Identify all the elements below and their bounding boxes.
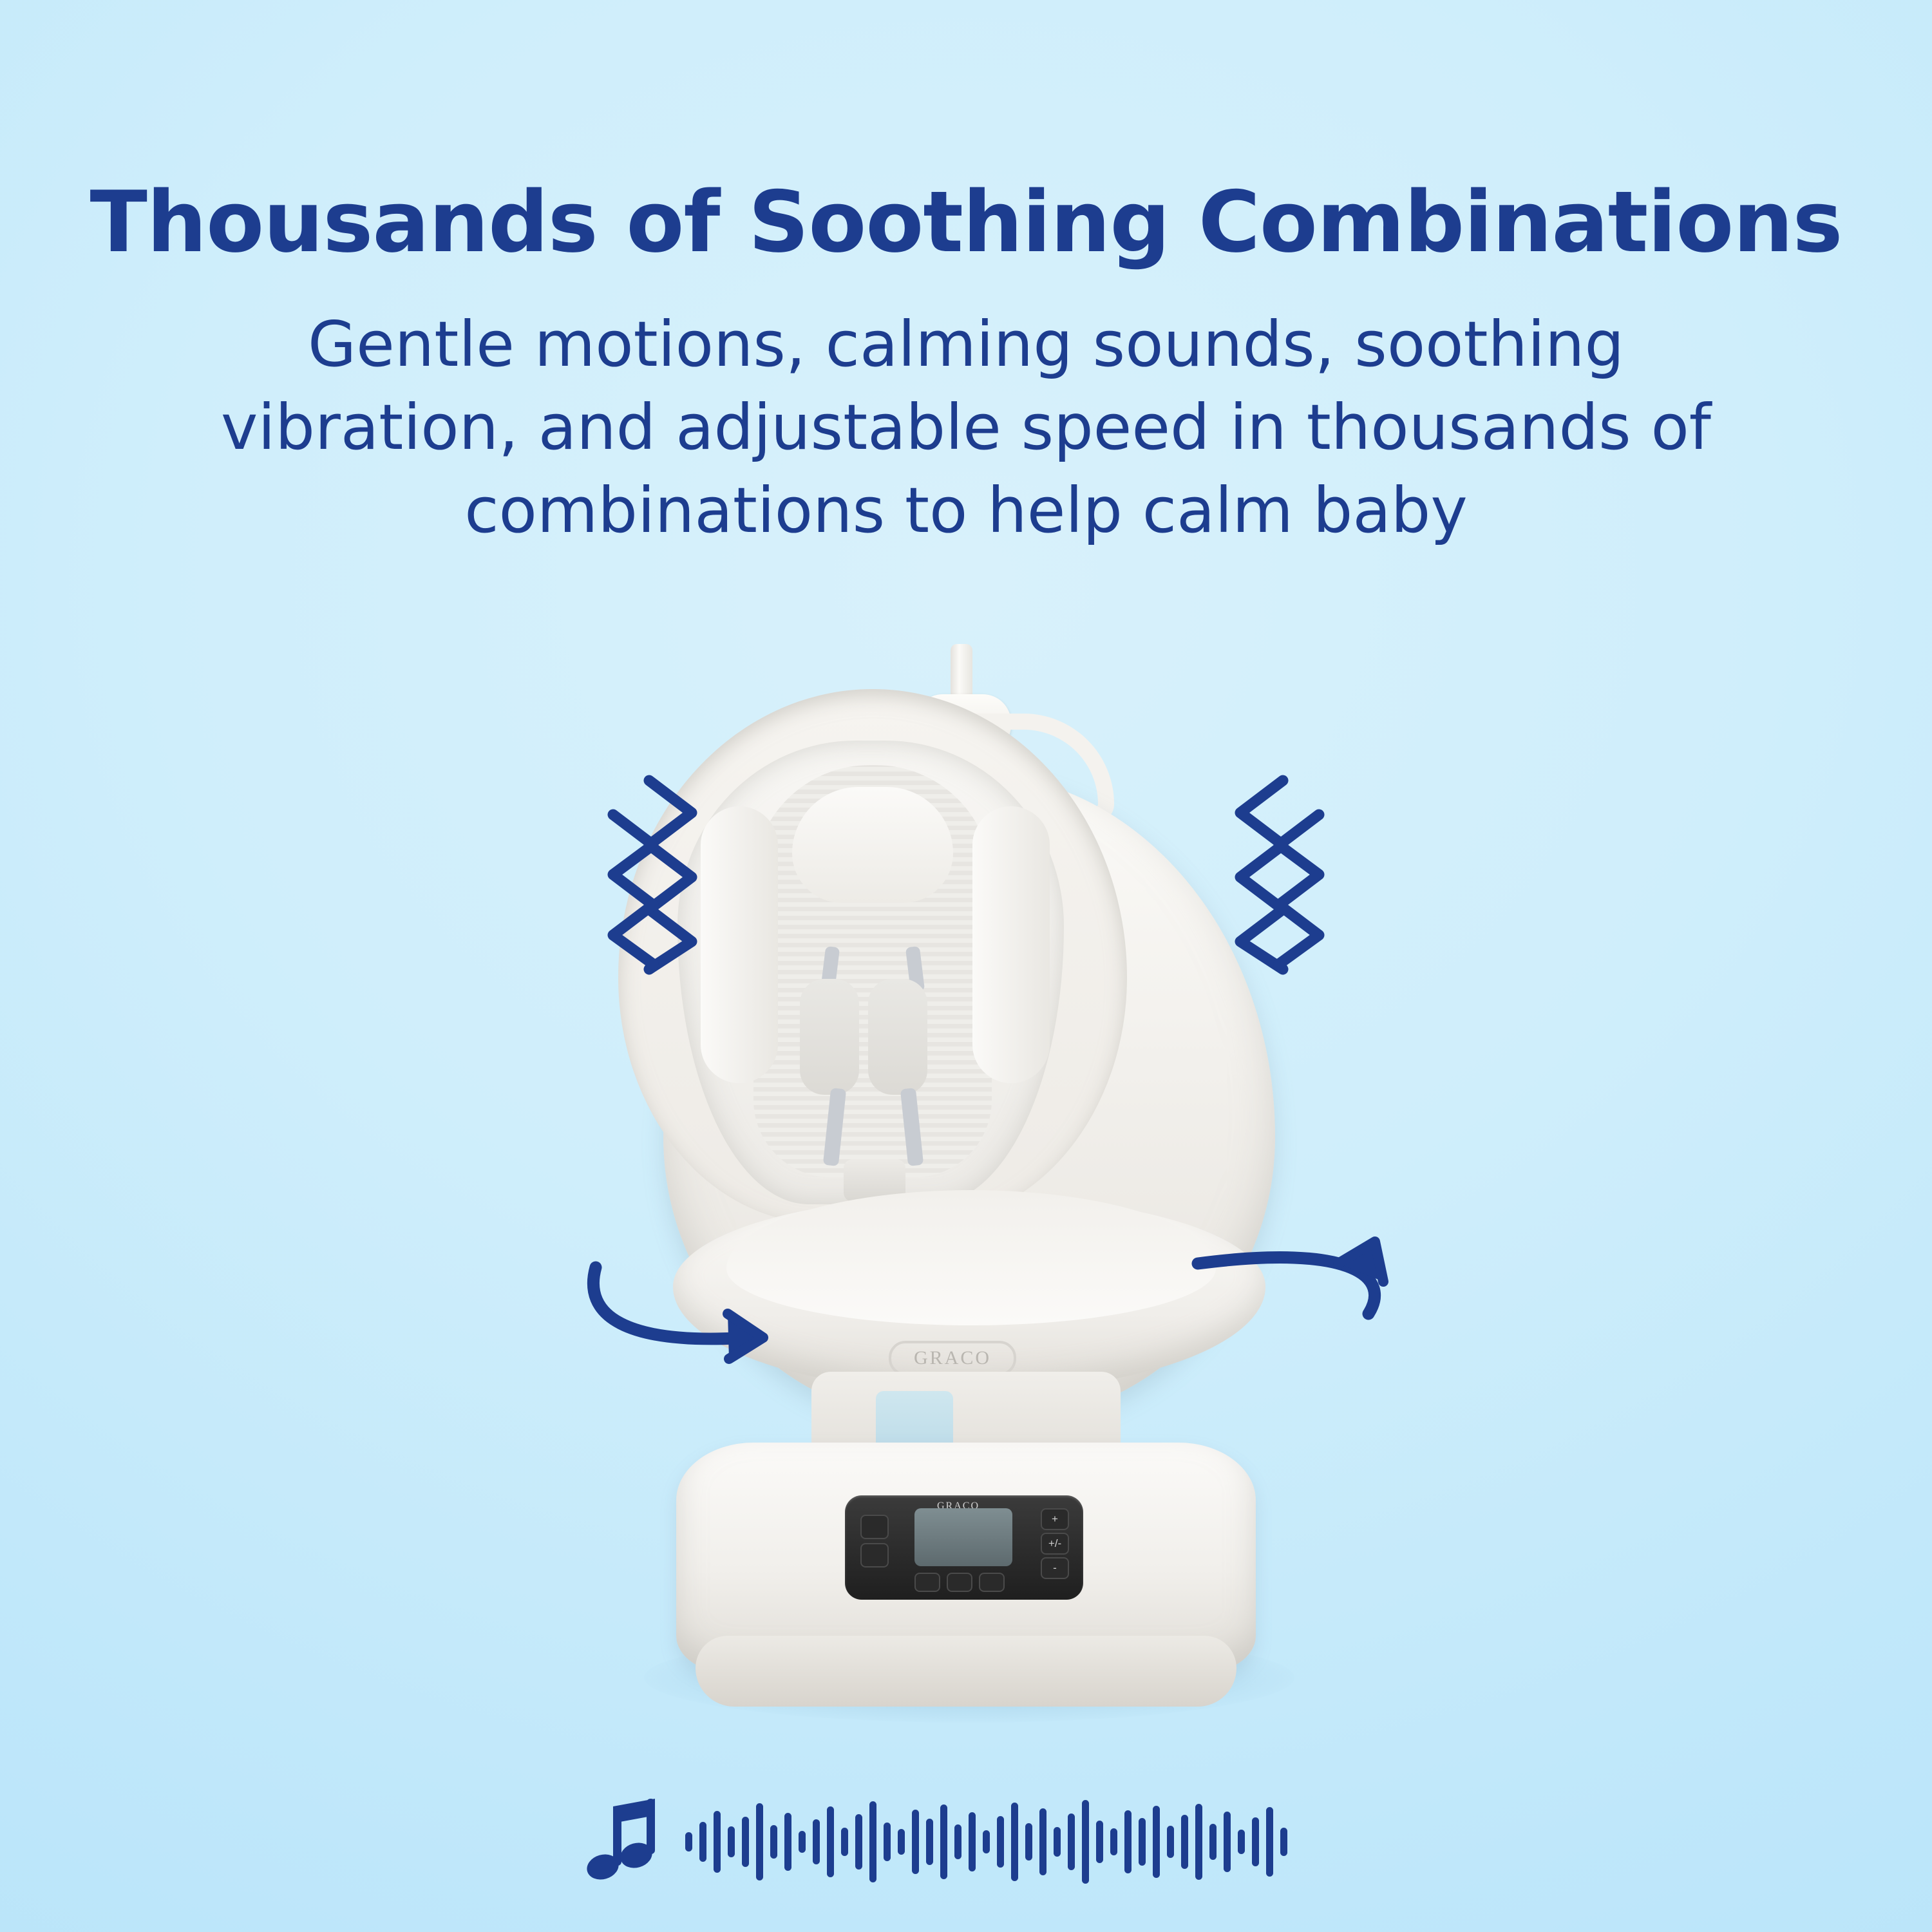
harness-pad-right	[868, 979, 927, 1095]
waveform-bar	[1266, 1807, 1273, 1877]
waveform-bar	[1039, 1808, 1046, 1875]
waveform-bar	[1054, 1827, 1061, 1857]
adjust-button[interactable]: +/-	[1041, 1533, 1069, 1555]
waveform-bar	[1139, 1818, 1146, 1866]
waveform-bar	[1280, 1828, 1287, 1856]
waveform-bar	[827, 1806, 834, 1877]
waveform-bar	[841, 1828, 848, 1856]
waveform-bar	[1068, 1814, 1075, 1870]
increase-button[interactable]: +	[1041, 1508, 1069, 1530]
music-note-icon	[580, 1794, 676, 1890]
waveform-bar	[685, 1832, 692, 1851]
head-support	[792, 787, 953, 903]
waveform-bar	[940, 1804, 947, 1879]
waveform-bar	[1224, 1812, 1231, 1872]
waveform-bar	[1181, 1815, 1188, 1869]
harness-pad-left	[800, 979, 859, 1095]
waveform-bar	[699, 1822, 706, 1862]
product-illustration: GRACO GRACO + +/- -	[567, 644, 1365, 1758]
waveform-bar	[784, 1813, 791, 1871]
sound-waveform-group	[580, 1784, 1352, 1900]
waveform-bar	[813, 1819, 820, 1864]
waveform-bar	[926, 1819, 933, 1865]
waveform-bar	[1011, 1803, 1018, 1881]
waveform-bar	[770, 1825, 777, 1859]
control-panel-screen	[914, 1508, 1012, 1566]
waveform-bars	[685, 1794, 1287, 1890]
waveform-bar	[1167, 1826, 1174, 1858]
page-subtitle: Gentle motions, calming sounds, soothing…	[177, 303, 1755, 552]
decrease-button[interactable]: -	[1041, 1557, 1069, 1579]
waveform-bar	[869, 1801, 876, 1882]
base-foot	[696, 1636, 1236, 1707]
waveform-bar	[898, 1829, 905, 1855]
waveform-bar	[1195, 1804, 1202, 1880]
waveform-bar	[714, 1811, 721, 1873]
page-title: Thousands of Soothing Combinations	[0, 173, 1932, 271]
waveform-bar	[912, 1810, 919, 1874]
vibration-button[interactable]	[860, 1515, 889, 1539]
waveform-bar	[1238, 1830, 1245, 1854]
waveform-bar	[1096, 1821, 1103, 1863]
waveform-bar	[969, 1812, 976, 1871]
waveform-bar	[1124, 1810, 1132, 1873]
seat-bolster-right	[972, 806, 1050, 1083]
waveform-bar	[983, 1830, 990, 1853]
motion-button[interactable]	[860, 1543, 889, 1567]
waveform-bar	[884, 1823, 891, 1861]
waveform-bar	[1252, 1817, 1259, 1866]
promo-image: Thousands of Soothing Combinations Gentl…	[0, 0, 1932, 1932]
waveform-bar	[1110, 1828, 1117, 1855]
power-button[interactable]	[914, 1573, 940, 1592]
waveform-bar	[742, 1817, 749, 1867]
waveform-bar	[997, 1816, 1004, 1868]
sound-button[interactable]	[979, 1573, 1005, 1592]
waveform-bar	[1209, 1824, 1217, 1860]
waveform-bar	[756, 1803, 763, 1880]
waveform-bar	[954, 1824, 961, 1859]
waveform-bar	[799, 1831, 806, 1853]
waveform-bar	[855, 1814, 862, 1870]
brand-badge: GRACO	[889, 1341, 1016, 1376]
waveform-bar	[728, 1826, 735, 1857]
timer-button[interactable]	[947, 1573, 972, 1592]
seat-bolster-left	[701, 806, 778, 1083]
waveform-bar	[1153, 1806, 1160, 1878]
waveform-bar	[1082, 1800, 1089, 1884]
waveform-bar	[1025, 1823, 1032, 1861]
